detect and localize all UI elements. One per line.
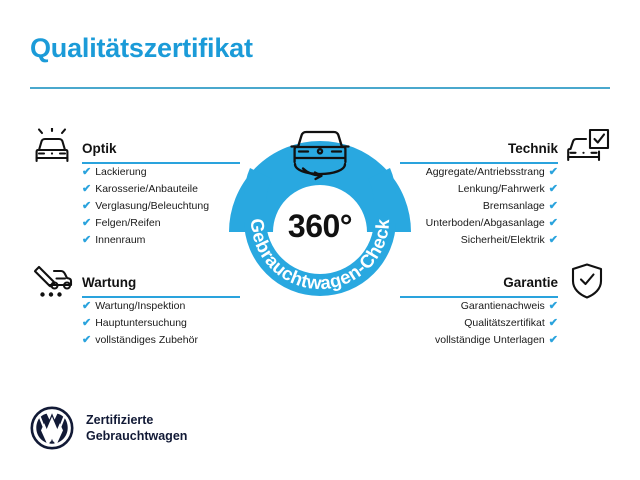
check-icon: ✔ — [549, 217, 558, 229]
check-icon: ✔ — [549, 300, 558, 312]
check-icon: ✔ — [549, 200, 558, 212]
check-icon: ✔ — [82, 166, 91, 178]
section-title-garantie: Garantie — [503, 275, 558, 290]
list-item-label: Lackierung — [95, 166, 146, 178]
list-item-label: vollständiges Zubehör — [95, 334, 198, 346]
list-item-label: vollständige Unterlagen — [435, 334, 545, 346]
list-item-label: Verglasung/Beleuchtung — [95, 200, 209, 212]
list-item-label: Karosserie/Anbauteile — [95, 183, 198, 195]
section-divider-technik — [400, 162, 558, 164]
page-title: Qualitätszertifikat — [30, 33, 253, 64]
list-item-label: Garantienachweis — [461, 300, 545, 312]
list-item: ✔Wartung/Inspektion — [82, 298, 240, 315]
list-item: ✔Innenraum — [82, 232, 240, 249]
check-list-optik: ✔Lackierung ✔Karosserie/Anbauteile ✔Verg… — [30, 164, 240, 249]
check-list-wartung: ✔Wartung/Inspektion ✔Hauptuntersuchung ✔… — [30, 298, 240, 349]
list-item: Sicherheit/Elektrik✔ — [400, 232, 558, 249]
footer-text: Zertifizierte Gebrauchtwagen — [86, 412, 187, 444]
check-icon: ✔ — [82, 300, 91, 312]
volkswagen-logo — [30, 406, 74, 450]
check-icon: ✔ — [82, 234, 91, 246]
list-item: Garantienachweis✔ — [400, 298, 558, 315]
check-icon: ✔ — [549, 334, 558, 346]
section-header-technik: Technik — [400, 128, 610, 164]
check-icon: ✔ — [82, 183, 91, 195]
car-wrench-icon — [30, 262, 76, 300]
list-item-label: Lenkung/Fahrwerk — [458, 183, 545, 195]
section-garantie: Garantie Garantienachweis✔ Qualitätszert… — [400, 262, 610, 349]
footer-brand: Zertifizierte Gebrauchtwagen — [30, 406, 187, 450]
car-shine-icon — [30, 128, 76, 166]
list-item: ✔Hauptuntersuchung — [82, 315, 240, 332]
section-optik: Optik ✔Lackierung ✔Karosserie/Anbauteile… — [30, 128, 240, 249]
section-divider-optik — [82, 162, 240, 164]
section-wartung: Wartung ✔Wartung/Inspektion ✔Hauptunters… — [30, 262, 240, 349]
check-icon: ✔ — [549, 234, 558, 246]
check-icon: ✔ — [549, 317, 558, 329]
list-item-label: Qualitätszertifikat — [464, 317, 545, 329]
check-icon: ✔ — [82, 317, 91, 329]
check-icon: ✔ — [82, 334, 91, 346]
shield-check-icon — [564, 262, 610, 300]
list-item-label: Hauptuntersuchung — [95, 317, 187, 329]
qualitaetszertifikat-page: Qualitätszertifikat Optik — [0, 0, 640, 480]
list-item-label: Wartung/Inspektion — [95, 300, 185, 312]
car-checkbox-icon — [564, 128, 610, 166]
section-title-wartung: Wartung — [82, 275, 136, 290]
list-item: ✔Lackierung — [82, 164, 240, 181]
list-item: ✔Felgen/Reifen — [82, 215, 240, 232]
list-item-label: Bremsanlage — [483, 200, 545, 212]
list-item: ✔Verglasung/Beleuchtung — [82, 198, 240, 215]
list-item: Qualitätszertifikat✔ — [400, 315, 558, 332]
list-item-label: Aggregate/Antriebsstrang — [426, 166, 545, 178]
list-item: Lenkung/Fahrwerk✔ — [400, 181, 558, 198]
footer-line-1: Zertifizierte — [86, 412, 187, 428]
check-icon: ✔ — [82, 200, 91, 212]
list-item: Aggregate/Antriebsstrang✔ — [400, 164, 558, 181]
list-item-label: Innenraum — [95, 234, 145, 246]
badge-360-number: 360° — [224, 208, 416, 245]
section-divider-garantie — [400, 296, 558, 298]
section-title-optik: Optik — [82, 141, 117, 156]
car-360-rotation-icon — [281, 124, 359, 186]
list-item: ✔Karosserie/Anbauteile — [82, 181, 240, 198]
list-item: Bremsanlage✔ — [400, 198, 558, 215]
list-item: Unterboden/Abgasanlage✔ — [400, 215, 558, 232]
check-icon: ✔ — [549, 183, 558, 195]
list-item: ✔vollständiges Zubehör — [82, 332, 240, 349]
list-item-label: Sicherheit/Elektrik — [461, 234, 545, 246]
list-item-label: Felgen/Reifen — [95, 217, 160, 229]
footer-line-2: Gebrauchtwagen — [86, 428, 187, 444]
list-item: vollständige Unterlagen✔ — [400, 332, 558, 349]
section-divider-wartung — [82, 296, 240, 298]
section-title-technik: Technik — [508, 141, 558, 156]
check-list-technik: Aggregate/Antriebsstrang✔ Lenkung/Fahrwe… — [400, 164, 610, 249]
section-technik: Technik Aggregate/Antriebsstrang✔ Lenkun… — [400, 128, 610, 249]
check-list-garantie: Garantienachweis✔ Qualitätszertifikat✔ v… — [400, 298, 610, 349]
section-header-optik: Optik — [30, 128, 240, 164]
check-icon: ✔ — [549, 166, 558, 178]
list-item-label: Unterboden/Abgasanlage — [426, 217, 545, 229]
section-header-wartung: Wartung — [30, 262, 240, 298]
check-icon: ✔ — [82, 217, 91, 229]
title-divider — [30, 87, 610, 89]
section-header-garantie: Garantie — [400, 262, 610, 298]
